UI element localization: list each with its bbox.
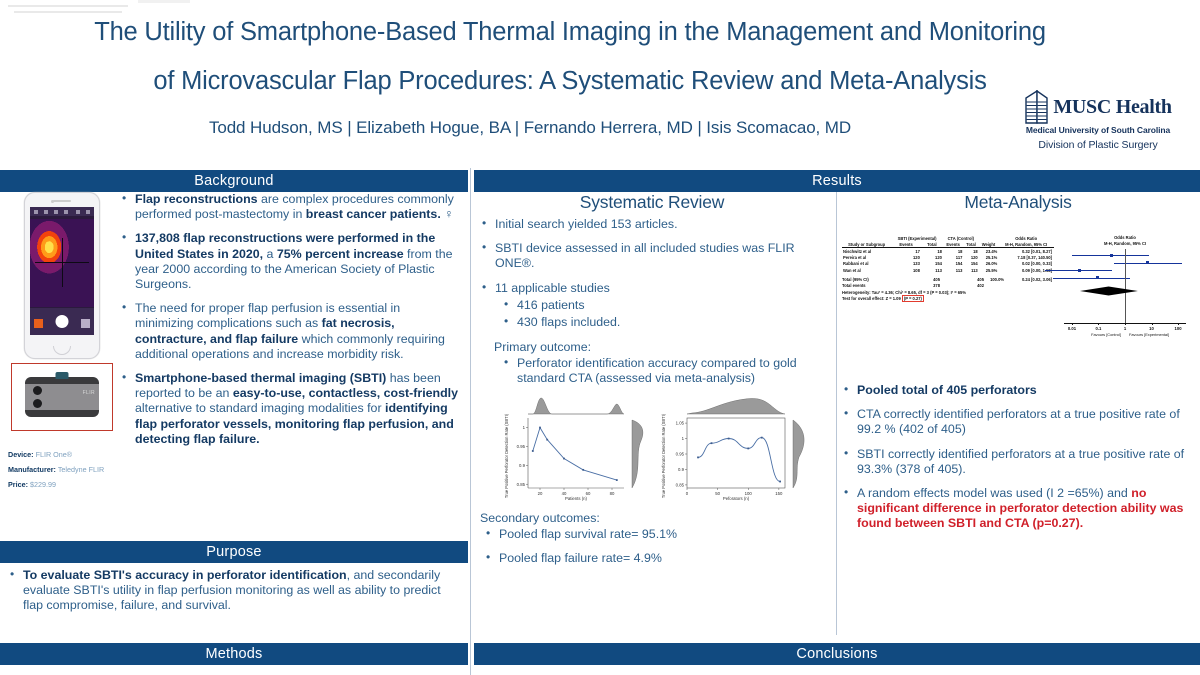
device-value: FLIR One® <box>36 450 72 459</box>
list-item-text: Flap reconstructions <box>135 192 258 206</box>
secondary-outcome-label: Secondary outcomes: <box>480 511 826 525</box>
purpose-body: To evaluate SBTI's accuracy in perforato… <box>8 568 460 623</box>
manufacturer-row: Manufacturer: Teledyne FLIR <box>8 462 116 477</box>
forest-cell: 113 <box>963 267 978 273</box>
forest-row: Wan et al10811311311325.5%0.09 [0.00, 1.… <box>842 267 1054 273</box>
section-bar-results: Results <box>474 170 1200 192</box>
section-bar-background-label: Background <box>194 173 273 189</box>
forest-plot: SBTI (Experimental) CTA (Control) Odds R… <box>842 235 1194 345</box>
logo-subtitle-division: Division of Plastic Surgery <box>1008 139 1188 151</box>
forest-cell: 18 <box>943 248 964 255</box>
section-bar-purpose-label: Purpose <box>206 544 261 560</box>
primary-outcome-label: Primary outcome: <box>494 340 826 354</box>
manufacturer-label: Manufacturer: <box>8 465 56 474</box>
chart1-ytick: 0.85 <box>676 482 685 487</box>
list-item: Pooled total of 405 perforators <box>842 383 1198 398</box>
forest-col-e-total: Total <box>921 241 943 248</box>
list-item: 137,808 flap reconstructions were perfor… <box>120 231 460 292</box>
phone-home-button <box>53 346 71 355</box>
palette-button <box>34 319 43 328</box>
connector-icon <box>56 372 69 379</box>
chart0-ytick: 0.85 <box>517 481 526 486</box>
chart1-point <box>761 436 763 438</box>
chart0-point <box>582 469 584 471</box>
section-bar-methods: Methods <box>0 643 468 665</box>
chart1-ytick: 1 <box>682 436 685 441</box>
meta-analysis-heading: Meta-Analysis <box>838 192 1198 213</box>
author-list: Todd Hudson, MS | Elizabeth Hogue, BA | … <box>0 118 1060 138</box>
forest-col-weight: Weight <box>979 241 999 248</box>
thermal-lens-icon <box>33 386 42 395</box>
chart1-ytick: 0.95 <box>676 451 685 456</box>
page-title-line1: The Utility of Smartphone-Based Thermal … <box>0 8 1140 57</box>
forest-column-header-row: Study or Subgroup Events Total Events To… <box>842 241 1054 248</box>
chart0-ytick: 0.9 <box>519 463 526 468</box>
shutter-button <box>56 315 69 328</box>
forest-ci-line <box>1053 278 1130 279</box>
systematic-review-bullet-list: Initial search yielded 153 articles.SBTI… <box>480 217 826 296</box>
device-figure: FLIR Device: FLIR One® Manufacturer: Tel… <box>8 192 116 492</box>
chart0-top-density <box>528 398 624 414</box>
list-item: Flap reconstructions are complex procedu… <box>120 192 460 222</box>
chart0-xtick: 80 <box>610 491 615 496</box>
forest-effect-marker <box>1146 261 1149 264</box>
section-bar-conclusions: Conclusions <box>474 643 1200 665</box>
forest-axis-tick-label: 0.01 <box>1066 326 1078 331</box>
forest-col-ci: M-H, Random, 95% CI <box>998 241 1054 248</box>
list-item: A random effects model was used (I 2 =65… <box>842 486 1198 532</box>
forest-col-study: Study or Subgroup <box>842 241 891 248</box>
building-icon <box>1024 90 1050 124</box>
thermal-image <box>30 219 94 307</box>
device-row: Device: FLIR One® <box>8 447 116 462</box>
forest-plot-area: 0.010.1110100Favours [Control]Favours [E… <box>1056 235 1194 345</box>
poster-root: The Utility of Smartphone-Based Thermal … <box>0 0 1200 675</box>
forest-axis-tick-label: 100 <box>1172 326 1184 331</box>
forest-effect-marker <box>1096 276 1099 279</box>
chart1-xtick: 150 <box>775 491 783 496</box>
forest-rows: Nischwitz et al1718181823.4%0.32 [0.01, … <box>842 248 1054 273</box>
chart0-xlabel: Patients (n) <box>565 496 588 501</box>
chart0-xtick: 20 <box>538 491 543 496</box>
list-item: To evaluate SBTI's accuracy in perforato… <box>8 568 460 614</box>
forest-cell: 25.5% <box>979 267 999 273</box>
list-item: CTA correctly identified perforators at … <box>842 407 1198 437</box>
logo-wordmark: MUSC Health <box>1053 97 1171 117</box>
price-row: Price: $229.99 <box>8 477 116 492</box>
flir-one-device: FLIR <box>25 377 99 417</box>
forest-cell: 17 <box>891 248 921 255</box>
device-metadata: Device: FLIR One® Manufacturer: Teledyne… <box>8 447 116 492</box>
chart0-point <box>546 438 548 440</box>
systematic-review-sub-bullet-list: 416 patients430 flaps included. <box>502 298 826 330</box>
list-item-text: Smartphone-based thermal imaging (SBTI) <box>135 371 386 385</box>
section-bar-background: Background <box>0 170 468 192</box>
chart0-ytick: 0.95 <box>517 444 526 449</box>
logo-subtitle-university: Medical University of South Carolina <box>1008 125 1188 135</box>
thermal-crosshair-v-icon <box>62 238 63 286</box>
chart0-point <box>616 479 618 481</box>
price-value: $229.99 <box>30 480 56 489</box>
forest-group-control: CTA (Control) <box>943 235 979 241</box>
forest-axis-tick-label: 10 <box>1146 326 1158 331</box>
list-item-text: 75% percent increase <box>277 247 404 261</box>
chart1-ytick: 0.9 <box>678 467 685 472</box>
price-label: Price: <box>8 480 28 489</box>
chart0-right-density <box>632 420 643 488</box>
list-item: Pooled flap failure rate= 4.9% <box>484 551 826 566</box>
perforator-detection-charts: True Positive Perforator Detection Rate … <box>472 396 832 501</box>
list-item: SBTI device assessed in all included stu… <box>480 241 826 271</box>
phone-screen <box>30 207 94 335</box>
forest-summary: Total (95% CI)405405100.0%0.24 [0.02, 3.… <box>842 277 1054 302</box>
chart1-right-density <box>793 420 804 488</box>
list-item: Pooled flap survival rate= 95.1% <box>484 527 826 542</box>
section-bar-results-label: Results <box>812 173 862 189</box>
smartphone-illustration <box>24 192 100 359</box>
chart-perforators-vs-detection: True Positive Perforator Detection Rate … <box>657 396 829 501</box>
list-item: 430 flaps included. <box>502 315 826 330</box>
chart0-ytick: 1 <box>523 425 526 430</box>
list-item-text: To evaluate SBTI's accuracy in perforato… <box>23 568 347 582</box>
forest-col-c-events: Events <box>943 241 964 248</box>
forest-overall-effect: Test for overall effect: Z = 1.09 (P = 0… <box>842 296 1054 302</box>
device-label: Device: <box>8 450 34 459</box>
list-item-text: alternative to standard imaging modaliti… <box>135 401 385 415</box>
list-item-text: a <box>263 247 277 261</box>
forest-cell: Wan et al <box>842 267 891 273</box>
poster-header: The Utility of Smartphone-Based Thermal … <box>0 0 1200 168</box>
manufacturer-value: Teledyne FLIR <box>58 465 104 474</box>
primary-outcome-list: Perforator identification accuracy compa… <box>502 356 826 386</box>
forest-favours-experimental: Favours [Experimental] <box>1125 332 1173 337</box>
chart1-xtick: 50 <box>715 491 720 496</box>
list-item-text: easy-to-use, contactless, cost-friendly <box>233 386 458 400</box>
chart0-point <box>539 426 541 428</box>
page-title-line2: of Microvascular Flap Procedures: A Syst… <box>0 57 1140 106</box>
chart1-top-density <box>687 398 785 414</box>
thermal-app-bottombar <box>30 308 94 335</box>
chart1-point <box>711 442 713 444</box>
background-bullet-list: Flap reconstructions are complex procedu… <box>120 192 460 447</box>
list-item: 416 patients <box>502 298 826 313</box>
section-bar-methods-label: Methods <box>205 646 262 662</box>
chart1-point <box>728 437 730 439</box>
list-item-text: breast cancer patients. <box>306 207 441 221</box>
forest-row: Nischwitz et al1718181823.4%0.32 [0.01, … <box>842 248 1054 255</box>
systematic-review-heading: Systematic Review <box>472 192 832 213</box>
list-item-text: A random effects model was used (I 2 =65… <box>857 486 1131 500</box>
list-item-text: CTA correctly identified perforators at … <box>857 407 1180 436</box>
list-item: SBTI correctly identified perforators at… <box>842 447 1198 477</box>
list-item: Perforator identification accuracy compa… <box>502 356 826 386</box>
forest-effect-marker <box>1110 254 1113 257</box>
secondary-outcome-list: Pooled flap survival rate= 95.1%Pooled f… <box>484 527 826 566</box>
list-item: Smartphone-based thermal imaging (SBTI) … <box>120 371 460 447</box>
chart1-point <box>697 456 699 458</box>
visual-lens-icon <box>33 399 42 408</box>
list-item: 11 applicable studies <box>480 281 826 296</box>
chart1-ylabel: True Positive Perforator Detection Rate … <box>661 413 666 498</box>
forest-cell: 18 <box>963 248 978 255</box>
chart1-ytick: 1.05 <box>676 420 685 425</box>
chart0-point <box>532 450 534 452</box>
forest-summary-diamond <box>1056 286 1194 297</box>
forest-cell: Nischwitz et al <box>842 248 891 255</box>
list-item-text: SBTI correctly identified perforators at… <box>857 447 1184 476</box>
flir-brand-label: FLIR <box>83 390 95 396</box>
section-bar-purpose: Purpose <box>0 541 468 563</box>
forest-group-experimental: SBTI (Experimental) <box>891 235 943 241</box>
meta-analysis-bullet-list: Pooled total of 405 perforatorsCTA corre… <box>838 383 1198 532</box>
list-item-text: ♀ <box>441 207 454 221</box>
forest-cell: 113 <box>921 267 943 273</box>
column-divider-right <box>836 192 837 635</box>
right-column: Meta-Analysis SBTI (Experimental) CTA (C… <box>838 192 1198 541</box>
list-item: The need for proper flap perfusion is es… <box>120 301 460 362</box>
chart1-xlabel: Peforators (n) <box>723 496 750 501</box>
chart1-point <box>747 447 749 449</box>
chart0-point <box>563 457 565 459</box>
forest-effect-marker <box>1078 269 1081 272</box>
forest-cell: 23.4% <box>979 248 999 255</box>
musc-logo: MUSC Health Medical University of South … <box>1008 90 1188 151</box>
page-title: The Utility of Smartphone-Based Thermal … <box>0 8 1140 106</box>
flir-device-highlight: FLIR <box>11 363 113 431</box>
list-item: Initial search yielded 153 articles. <box>480 217 826 232</box>
list-item-text: Pooled total of 405 perforators <box>857 383 1037 397</box>
forest-cell: 0.32 [0.01, 8.27] <box>998 248 1054 255</box>
column-divider-left <box>470 168 471 675</box>
forest-plot-table: SBTI (Experimental) CTA (Control) Odds R… <box>842 235 1054 302</box>
background-text: Flap reconstructions are complex procedu… <box>120 192 460 456</box>
chart1-point <box>779 480 781 482</box>
forest-cell: 113 <box>943 267 964 273</box>
phone-earpiece-icon <box>53 200 71 202</box>
gallery-button <box>81 319 90 328</box>
forest-favours-control: Favours [Control] <box>1087 332 1125 337</box>
forest-cell: 18 <box>921 248 943 255</box>
thermal-app-toolbar <box>30 207 94 216</box>
forest-col-c-total: Total <box>963 241 978 248</box>
forest-axis-tick-label: 0.1 <box>1092 326 1104 331</box>
purpose-bullet-list: To evaluate SBTI's accuracy in perforato… <box>8 568 460 614</box>
chart1-xtick: 0 <box>686 491 689 496</box>
section-bar-conclusions-label: Conclusions <box>796 646 877 662</box>
forest-col-e-events: Events <box>891 241 921 248</box>
chart-patients-vs-detection: True Positive Perforator Detection Rate … <box>500 396 665 501</box>
chart0-ylabel: True Positive Perforator Detection Rate … <box>504 413 509 498</box>
forest-cell: 108 <box>891 267 921 273</box>
forest-axis-tick-label: 1 <box>1119 326 1131 331</box>
middle-column: Systematic Review Initial search yielded… <box>472 192 832 575</box>
